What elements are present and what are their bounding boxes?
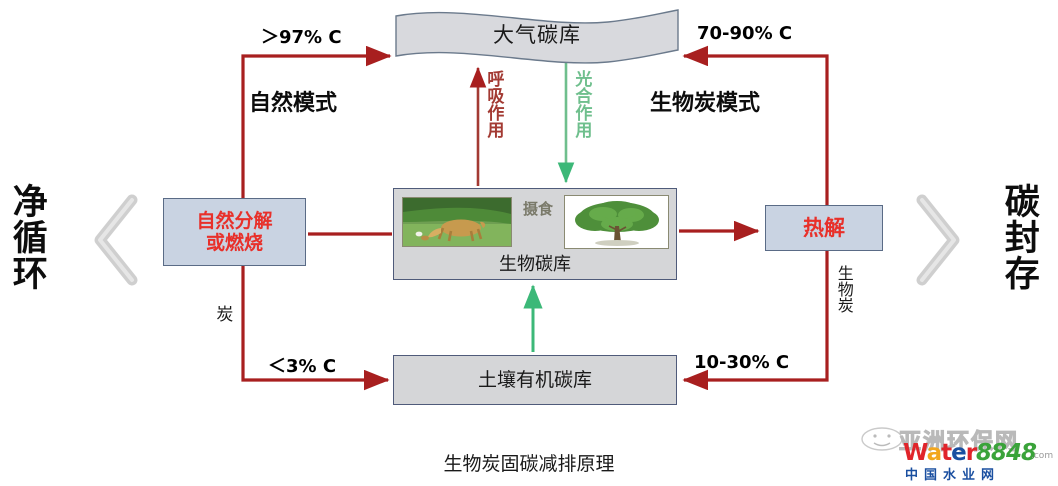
wm-letter-a: a bbox=[927, 440, 942, 466]
label-photosynthesis: 光合作用 bbox=[572, 70, 589, 138]
heading-natural-mode: 自然模式 bbox=[249, 85, 337, 117]
node-soil-organic-carbon-pool: 土壤有机碳库 bbox=[393, 355, 677, 405]
node-pyrolysis: 热解 bbox=[765, 205, 883, 251]
diagram-canvas: 大气碳库 自然分解 或燃烧 bbox=[0, 0, 1058, 486]
node-natural-decomposition: 自然分解 或燃烧 bbox=[163, 198, 306, 266]
arrow-natural-to-atmosphere bbox=[243, 56, 390, 198]
wm-letter-t: t bbox=[941, 440, 951, 466]
node-biological-carbon-pool: 摄食 bbox=[393, 188, 677, 280]
decomposition-line-1: 自然分解 bbox=[196, 210, 272, 232]
label-biochar-to-soil-pct: 10-30% C bbox=[694, 352, 789, 373]
ingestion-label: 摄食 bbox=[512, 201, 564, 219]
label-biochar-to-atmosphere-pct: 70-90% C bbox=[697, 23, 792, 44]
chevron-left-icon bbox=[88, 192, 140, 293]
label-natural-to-atmosphere-pct: ＞97% C bbox=[261, 23, 342, 49]
wm-letter-e: e bbox=[951, 440, 966, 466]
label-char: 炭 bbox=[213, 305, 230, 322]
heading-biochar-mode: 生物炭模式 bbox=[650, 85, 760, 117]
watermark: 亚洲环保网 Water8848 .com 中国水业网 bbox=[855, 424, 1055, 482]
wm-letter-w: W bbox=[903, 440, 927, 466]
decomposition-line-2: 或燃烧 bbox=[196, 232, 272, 254]
node-atmosphere-carbon-pool: 大气碳库 bbox=[393, 6, 681, 64]
cow-photo bbox=[402, 197, 512, 247]
label-net-cycle: 净循环 bbox=[8, 183, 44, 291]
pyrolysis-label: 热解 bbox=[803, 216, 845, 241]
watermark-tld: .com bbox=[1031, 451, 1053, 461]
label-biochar: 生物炭 bbox=[835, 265, 852, 313]
soil-pool-label: 土壤有机碳库 bbox=[478, 369, 592, 391]
wm-number: 8848 bbox=[976, 440, 1036, 466]
watermark-subtitle: 中国水业网 bbox=[905, 464, 1000, 483]
label-respiration: 呼吸作用 bbox=[484, 70, 501, 138]
wm-letter-r: r bbox=[966, 440, 976, 466]
label-carbon-sequestration: 碳封存 bbox=[1000, 183, 1036, 291]
label-natural-to-soil-pct: ＜3% C bbox=[268, 352, 336, 378]
biological-pool-label: 生物碳库 bbox=[394, 254, 676, 275]
tree-photo bbox=[564, 195, 669, 249]
atmosphere-label: 大气碳库 bbox=[393, 6, 681, 64]
watermark-brand: Water8848 bbox=[903, 440, 1036, 466]
chevron-right-icon bbox=[914, 192, 966, 293]
smiley-face-icon bbox=[860, 426, 904, 457]
arrow-biochar-to-atmosphere bbox=[684, 56, 827, 205]
